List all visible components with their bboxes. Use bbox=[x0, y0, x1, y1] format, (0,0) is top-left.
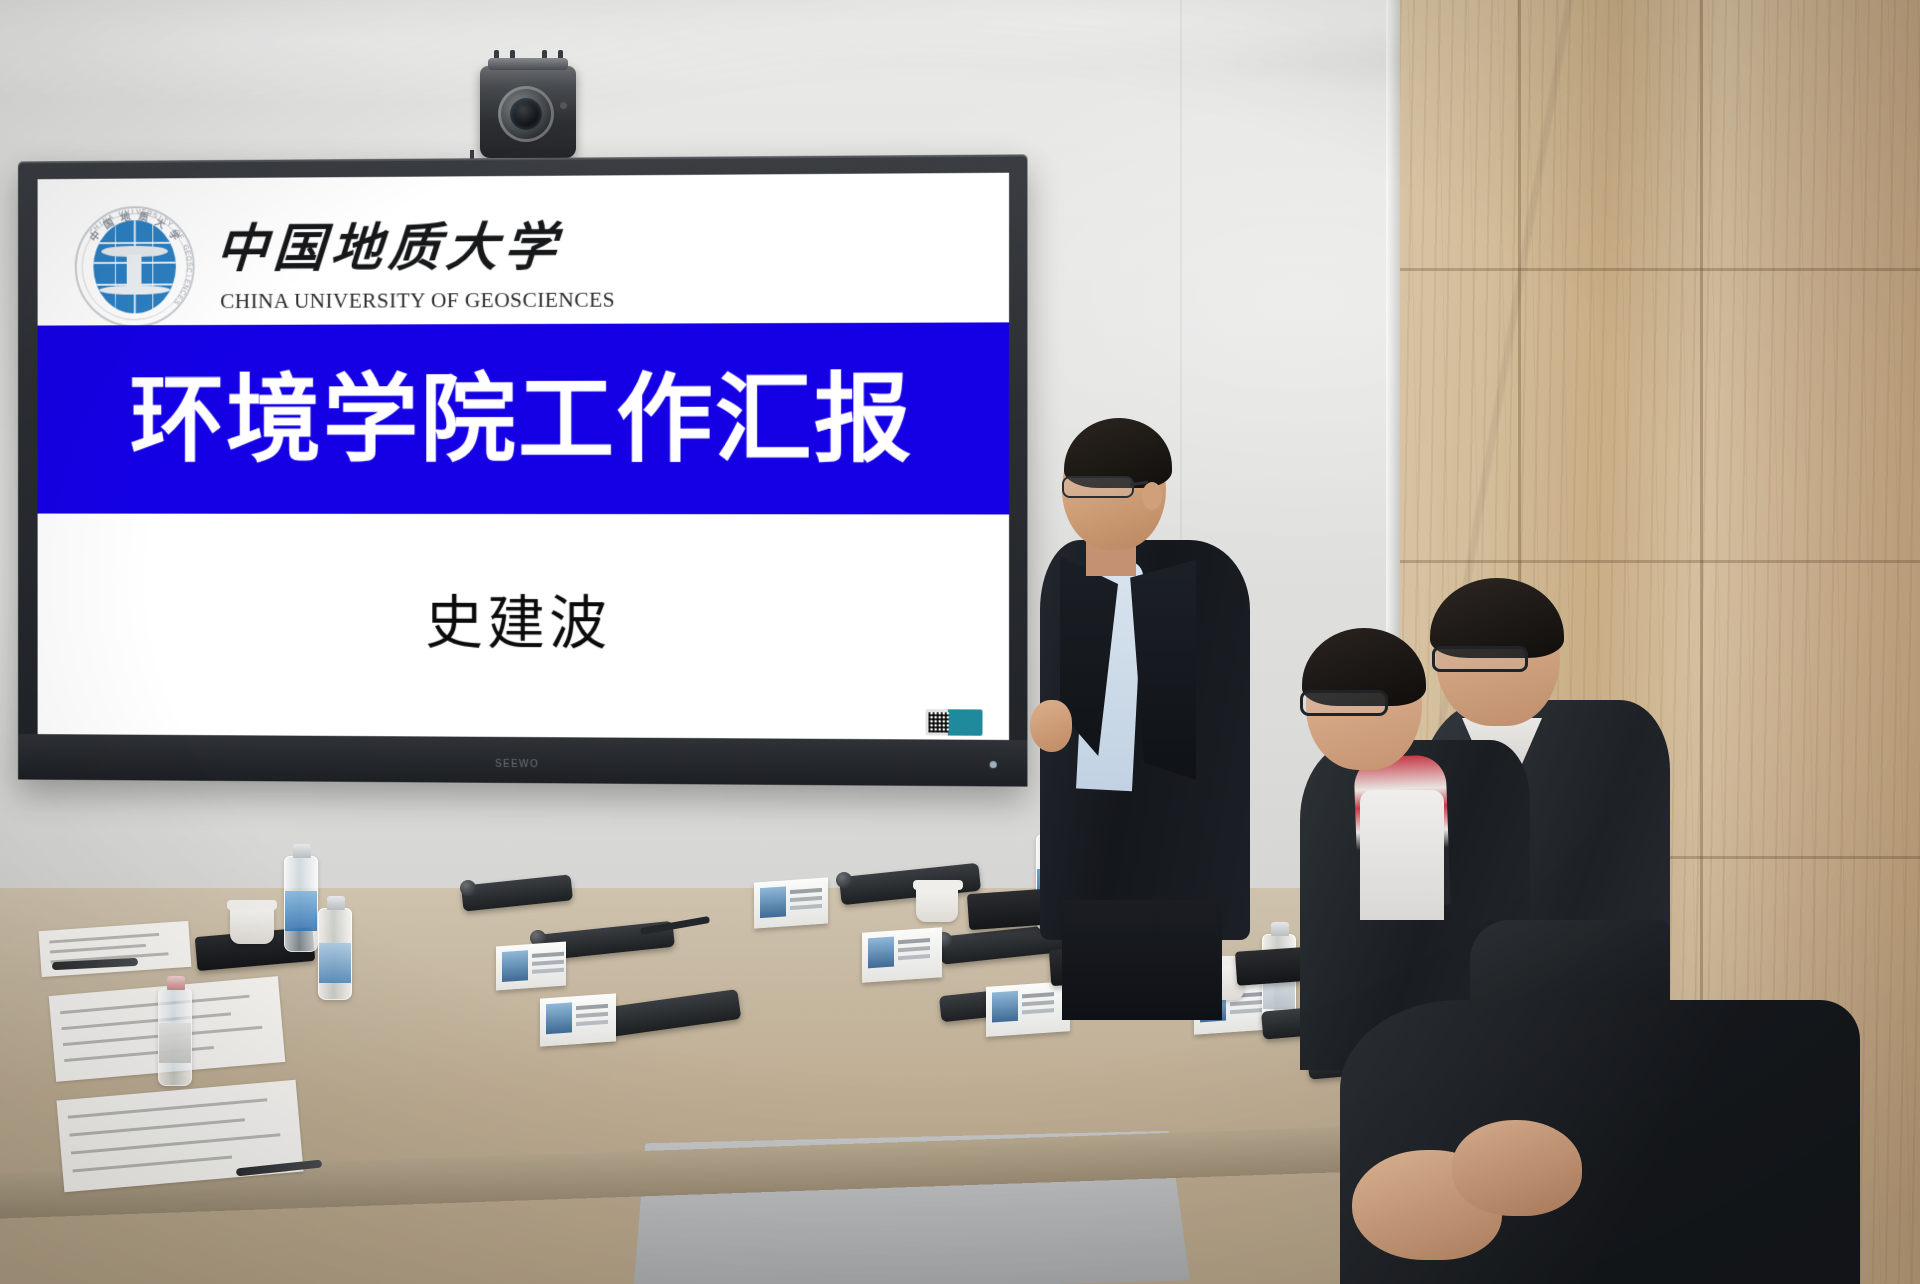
desk-nameplate bbox=[862, 927, 942, 983]
wood-seam-horizontal bbox=[1400, 268, 1920, 271]
attendee-shirt bbox=[1360, 790, 1444, 920]
university-name-en: CHINA UNIVERSITY OF GEOSCIENCES bbox=[220, 288, 615, 314]
conference-camera bbox=[480, 66, 576, 158]
wood-seam-horizontal bbox=[1400, 560, 1920, 563]
paper-cup bbox=[916, 886, 958, 922]
presentation-slide: 中国地质大学 CHINA UNIVERSITY OF GEOSCIENCES 中… bbox=[38, 173, 1009, 740]
camera-mount-bar bbox=[488, 58, 568, 70]
camera-status-indicator bbox=[560, 102, 567, 109]
desk-nameplate bbox=[540, 993, 616, 1046]
desk-nameplate bbox=[986, 981, 1070, 1037]
slide-header: 中国地质大学 CHINA UNIVERSITY OF GEOSCIENCES 中… bbox=[38, 173, 1009, 326]
microphone-head bbox=[836, 872, 852, 888]
water-bottle bbox=[284, 856, 318, 952]
camera-lens bbox=[510, 98, 542, 130]
university-emblem-logo: 中国地质大学 CHINA UNIVERSITY OF GEOSCIENCES bbox=[75, 206, 195, 328]
presenter-trousers bbox=[1062, 900, 1222, 1020]
photo-scene: 中国地质大学 CHINA UNIVERSITY OF GEOSCIENCES 中… bbox=[0, 0, 1920, 1284]
desk-nameplate bbox=[754, 877, 828, 928]
attendee-glasses bbox=[1432, 646, 1528, 672]
camera-lens-ring bbox=[498, 86, 554, 142]
foreground-hand-second bbox=[1452, 1120, 1582, 1216]
slide-presenter-area: 史建波 bbox=[38, 514, 1009, 740]
paper-cup bbox=[230, 906, 274, 944]
slide-title-band: 环境学院工作汇报 bbox=[38, 322, 1009, 514]
desk-nameplate bbox=[496, 942, 566, 991]
university-wordmark: 中国地质大学 CHINA UNIVERSITY OF GEOSCIENCES bbox=[216, 203, 615, 314]
display-qr-sticker bbox=[925, 709, 982, 736]
interactive-display[interactable]: 中国地质大学 CHINA UNIVERSITY OF GEOSCIENCES 中… bbox=[18, 154, 1027, 786]
microphone-head bbox=[460, 880, 476, 896]
qr-code-icon bbox=[928, 712, 948, 732]
display-screen[interactable]: 中国地质大学 CHINA UNIVERSITY OF GEOSCIENCES 中… bbox=[38, 173, 1009, 740]
presenter-ear bbox=[1142, 482, 1162, 510]
presenter-glasses bbox=[1062, 476, 1134, 498]
water-bottle bbox=[318, 908, 352, 1000]
slide-title: 环境学院工作汇报 bbox=[130, 370, 914, 467]
display-brand-text: SEEWO bbox=[495, 759, 539, 770]
emblem-arc-text-en: CHINA UNIVERSITY OF GEOSCIENCES bbox=[75, 206, 195, 328]
presenter-name: 史建波 bbox=[425, 576, 611, 661]
attendee-glasses bbox=[1300, 690, 1388, 716]
university-name-cn: 中国地质大学 bbox=[214, 221, 616, 275]
presenter-hand bbox=[1030, 700, 1072, 752]
display-power-led bbox=[990, 761, 997, 768]
water-bottle bbox=[158, 988, 192, 1086]
